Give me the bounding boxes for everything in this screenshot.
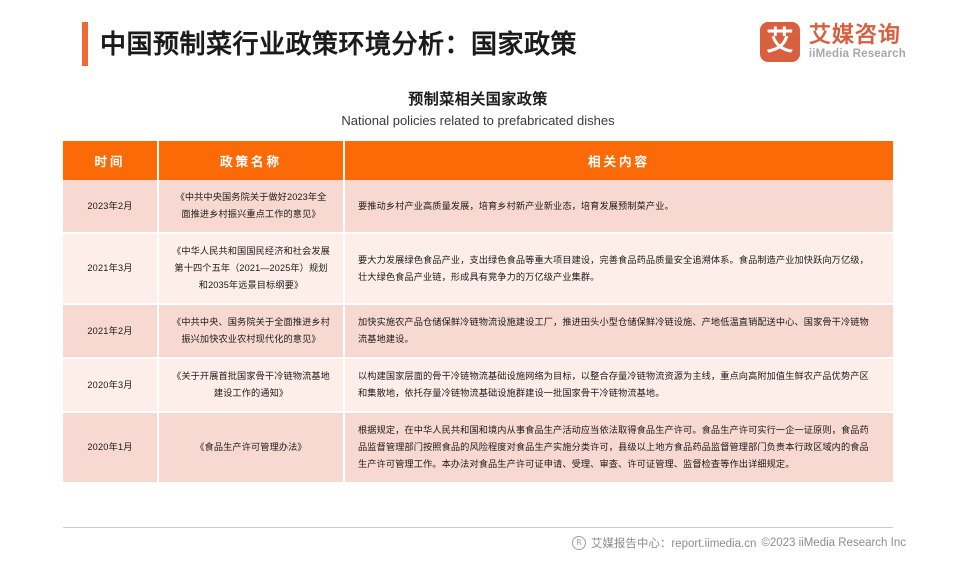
cell-time: 2021年3月 xyxy=(63,233,158,304)
table-row: 2020年3月 《关于开展首批国家骨干冷链物流基地建设工作的通知》 以构建国家层… xyxy=(63,358,893,412)
table-row: 2020年1月 《食品生产许可管理办法》 根据规定，在中华人民共和国和境内从事食… xyxy=(63,412,893,483)
cell-policy-name: 《食品生产许可管理办法》 xyxy=(158,412,344,483)
column-header-policy-name: 政策名称 xyxy=(158,141,344,180)
column-header-time: 时间 xyxy=(63,141,158,180)
cell-content: 要推动乡村产业高质量发展，培育乡村新产业新业态，培育发展预制菜产业。 xyxy=(344,180,893,233)
table-row: 2023年2月 《中共中央国务院关于做好2023年全面推进乡村振兴重点工作的意见… xyxy=(63,180,893,233)
cell-policy-name: 《中华人民共和国国民经济和社会发展第十四个五年（2021—2025年）规划和20… xyxy=(158,233,344,304)
policy-table-wrapper: 时间 政策名称 相关内容 2023年2月 《中共中央国务院关于做好2023年全面… xyxy=(63,141,893,484)
footer-divider xyxy=(63,527,893,528)
table-row: 2021年3月 《中华人民共和国国民经济和社会发展第十四个五年（2021—202… xyxy=(63,233,893,304)
cell-policy-name: 《中共中央国务院关于做好2023年全面推进乡村振兴重点工作的意见》 xyxy=(158,180,344,233)
cell-time: 2023年2月 xyxy=(63,180,158,233)
brand-name-cn: 艾媒咨询 xyxy=(809,23,906,47)
footer-copyright: ©2023 iiMedia Research Inc xyxy=(761,537,906,549)
page-header: 中国预制菜行业政策环境分析：国家政策 艾 艾媒咨询 iiMedia Resear… xyxy=(0,0,956,80)
registered-mark-icon: R xyxy=(572,536,586,550)
title-accent-bar xyxy=(82,22,88,66)
page-title: 中国预制菜行业政策环境分析：国家政策 xyxy=(100,22,577,66)
cell-time: 2020年1月 xyxy=(63,412,158,483)
cell-time: 2020年3月 xyxy=(63,358,158,412)
chart-caption-cn: 预制菜相关国家政策 xyxy=(0,88,956,109)
table-row: 2021年2月 《中共中央、国务院关于全面推进乡村振兴加快农业农村现代化的意见》… xyxy=(63,304,893,358)
cell-policy-name: 《关于开展首批国家骨干冷链物流基地建设工作的通知》 xyxy=(158,358,344,412)
policy-table: 时间 政策名称 相关内容 2023年2月 《中共中央国务院关于做好2023年全面… xyxy=(63,141,893,484)
brand-mark-icon: 艾 xyxy=(760,22,800,62)
table-header-row: 时间 政策名称 相关内容 xyxy=(63,141,893,180)
cell-content: 加快实施农产品仓储保鲜冷链物流设施建设工厂，推进田头小型仓储保鲜冷链设施、产地低… xyxy=(344,304,893,358)
cell-content: 根据规定，在中华人民共和国和境内从事食品生产活动应当依法取得食品生产许可。食品生… xyxy=(344,412,893,483)
column-header-content: 相关内容 xyxy=(344,141,893,180)
chart-caption-en: National policies related to prefabricat… xyxy=(0,113,956,128)
cell-time: 2021年2月 xyxy=(63,304,158,358)
brand-logo: 艾 艾媒咨询 iiMedia Research xyxy=(760,22,906,62)
cell-content: 要大力发展绿色食品产业，支出绿色食品等重大项目建设，完善食品药品质量安全追溯体系… xyxy=(344,233,893,304)
cell-content: 以构建国家层面的骨干冷链物流基础设施网络为目标，以整合存量冷链物流资源为主线，重… xyxy=(344,358,893,412)
cell-policy-name: 《中共中央、国务院关于全面推进乡村振兴加快农业农村现代化的意见》 xyxy=(158,304,344,358)
brand-text: 艾媒咨询 iiMedia Research xyxy=(809,23,906,61)
page-footer: R 艾媒报告中心：report.iimedia.cn ©2023 iiMedia… xyxy=(572,535,906,551)
footer-report-center: 艾媒报告中心：report.iimedia.cn xyxy=(591,535,757,551)
brand-name-en: iiMedia Research xyxy=(809,47,906,61)
